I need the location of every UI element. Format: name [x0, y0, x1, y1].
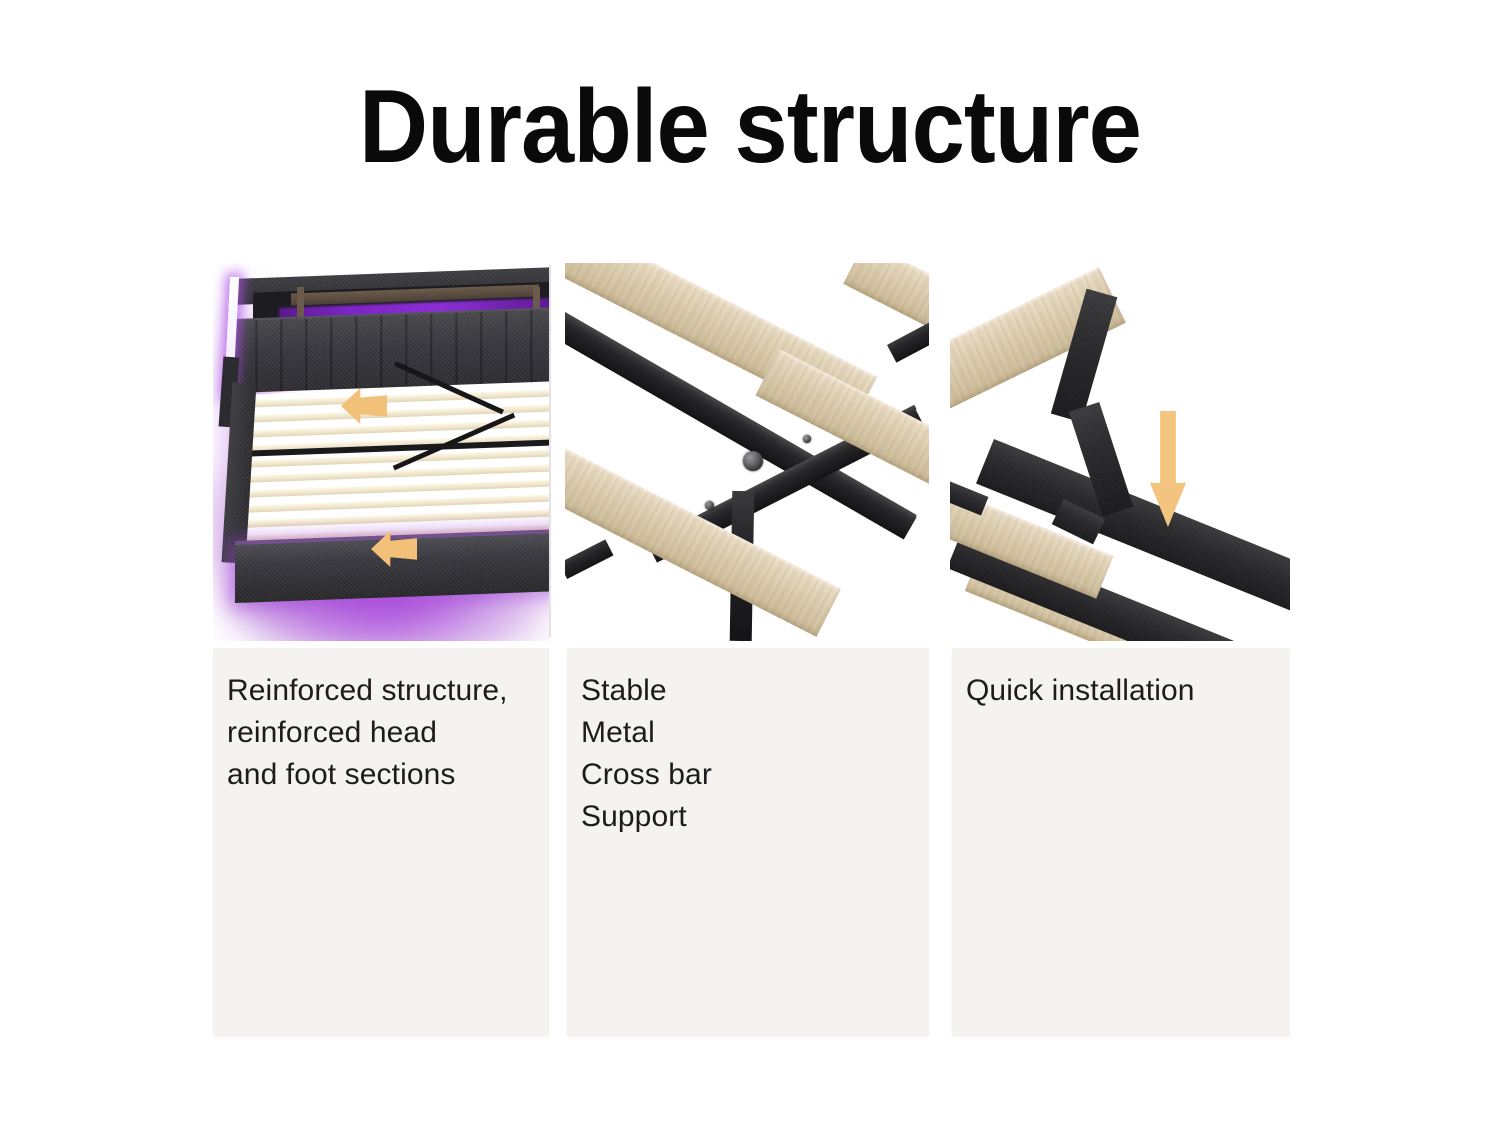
photo-2-scene — [565, 263, 929, 641]
caption-card-2: Stable Metal Cross bar Support — [567, 648, 929, 1036]
rivet-icon — [705, 501, 714, 510]
rivet-icon — [803, 435, 811, 443]
caption-text-2: Stable Metal Cross bar Support — [581, 670, 921, 838]
caption-card-1: Reinforced structure, reinforced head an… — [213, 648, 549, 1036]
caption-card-3: Quick installation — [952, 648, 1290, 1036]
caption-text-1: Reinforced structure, reinforced head an… — [227, 670, 541, 796]
product-photo-bed-frame — [213, 263, 549, 641]
product-photo-cross-bar — [565, 263, 929, 641]
product-photo-quick-install — [950, 263, 1290, 641]
photo-1-scene — [213, 263, 549, 641]
bolt-icon — [743, 451, 763, 471]
fabric-texture — [233, 309, 549, 393]
photo-3-scene — [950, 263, 1290, 641]
caption-text-3: Quick installation — [966, 670, 1282, 712]
headboard-tufted-panel — [233, 309, 549, 393]
metal-stub-lower-left — [565, 539, 614, 579]
photo-divider — [549, 265, 551, 637]
page-title: Durable structure — [60, 72, 1440, 182]
